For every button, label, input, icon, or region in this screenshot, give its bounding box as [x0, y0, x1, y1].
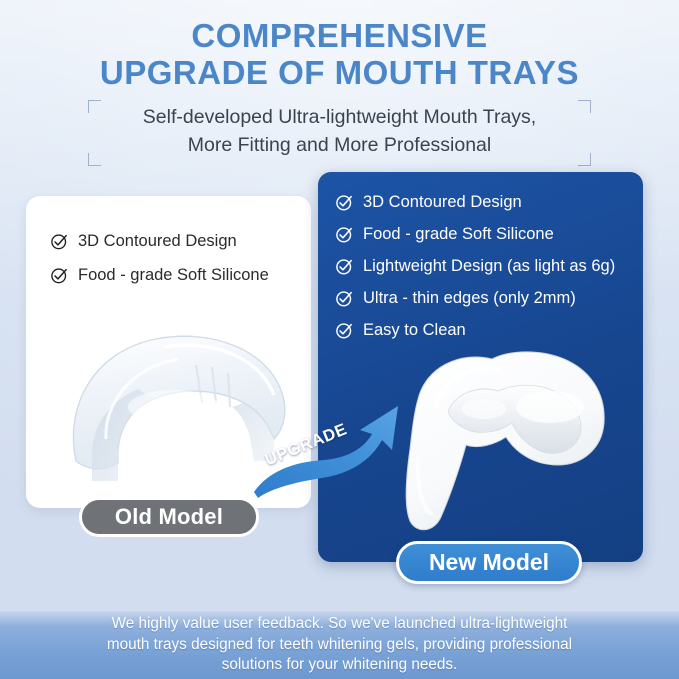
- check-circle-icon: [335, 225, 354, 244]
- infographic-canvas: COMPREHENSIVE UPGRADE OF MOUTH TRAYS Sel…: [0, 0, 679, 679]
- check-circle-icon: [50, 232, 69, 251]
- corner-bracket-bottom-left-icon: [88, 153, 101, 166]
- feature-label: Food - grade Soft Silicone: [78, 266, 269, 285]
- subtitle-line-2: More Fitting and More Professional: [88, 132, 591, 160]
- check-circle-icon: [50, 266, 69, 285]
- page-title: COMPREHENSIVE UPGRADE OF MOUTH TRAYS: [0, 18, 679, 92]
- corner-bracket-top-left-icon: [88, 100, 101, 113]
- subtitle-line-1: Self-developed Ultra-lightweight Mouth T…: [88, 104, 591, 132]
- list-item: Lightweight Design (as light as 6g): [335, 257, 615, 276]
- new-model-badge: New Model: [396, 541, 582, 584]
- new-model-feature-list: 3D Contoured Design Food - grade Soft Si…: [335, 193, 615, 353]
- list-item: Ultra - thin edges (only 2mm): [335, 289, 615, 308]
- new-model-product-image: [374, 337, 629, 542]
- old-model-badge-label: Old Model: [115, 504, 223, 530]
- footer-text: We highly value user feedback. So we've …: [85, 614, 594, 675]
- list-item: 3D Contoured Design: [335, 193, 615, 212]
- footer-bar: We highly value user feedback. So we've …: [0, 611, 679, 679]
- footer-line-2: mouth trays designed for teeth whitening…: [107, 635, 572, 655]
- check-circle-icon: [335, 321, 354, 340]
- old-model-badge: Old Model: [79, 497, 259, 537]
- feature-label: Ultra - thin edges (only 2mm): [363, 289, 576, 308]
- feature-label: Lightweight Design (as light as 6g): [363, 257, 615, 276]
- subtitle: Self-developed Ultra-lightweight Mouth T…: [88, 100, 591, 159]
- feature-label: 3D Contoured Design: [78, 232, 237, 251]
- check-circle-icon: [335, 193, 354, 212]
- new-model-panel: 3D Contoured Design Food - grade Soft Si…: [318, 172, 643, 562]
- list-item: Food - grade Soft Silicone: [335, 225, 615, 244]
- title-line-1: COMPREHENSIVE: [0, 18, 679, 55]
- feature-label: Food - grade Soft Silicone: [363, 225, 554, 244]
- corner-bracket-top-right-icon: [578, 100, 591, 113]
- check-circle-icon: [335, 257, 354, 276]
- title-line-2: UPGRADE OF MOUTH TRAYS: [0, 55, 679, 92]
- check-circle-icon: [335, 289, 354, 308]
- upgrade-arrow: UPGRADE: [252, 400, 402, 500]
- feature-label: 3D Contoured Design: [363, 193, 522, 212]
- footer-line-3: solutions for your whitening needs.: [107, 655, 572, 675]
- subtitle-frame: Self-developed Ultra-lightweight Mouth T…: [88, 100, 591, 166]
- list-item: 3D Contoured Design: [50, 232, 269, 251]
- new-model-badge-label: New Model: [429, 549, 549, 576]
- old-model-feature-list: 3D Contoured Design Food - grade Soft Si…: [50, 232, 269, 300]
- footer-line-1: We highly value user feedback. So we've …: [107, 614, 572, 634]
- list-item: Food - grade Soft Silicone: [50, 266, 269, 285]
- corner-bracket-bottom-right-icon: [578, 153, 591, 166]
